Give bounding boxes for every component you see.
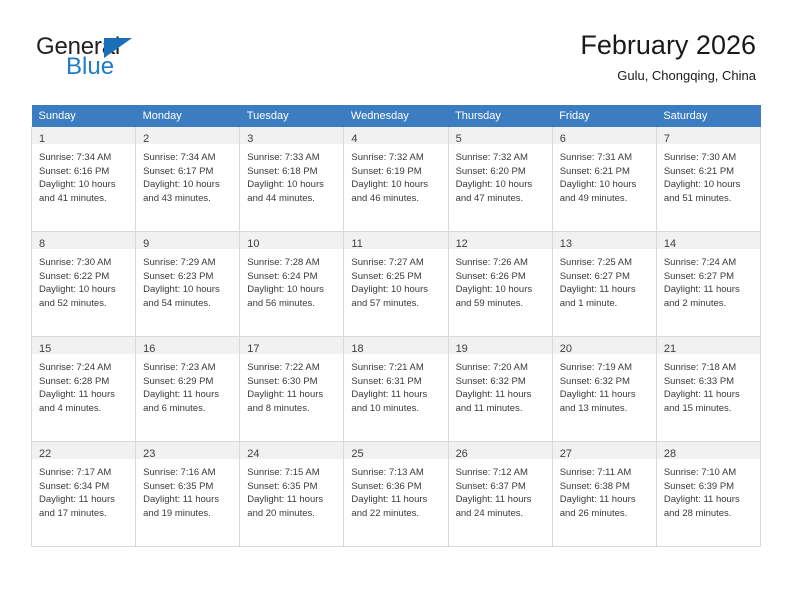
day-number: 15 (39, 343, 51, 355)
calendar-day-cell[interactable]: 2 Sunrise: 7:34 AM Sunset: 6:17 PM Dayli… (136, 127, 240, 232)
daylight-text: Daylight: 10 hours and 51 minutes. (664, 178, 754, 205)
brand-logo[interactable]: General Blue (36, 34, 246, 90)
sunrise-text: Sunrise: 7:24 AM (664, 256, 754, 270)
weekday-header-tuesday: Tuesday (240, 105, 344, 127)
day-number: 25 (351, 448, 363, 460)
title-block: February 2026 Gulu, Chongqing, China (580, 28, 756, 86)
day-number: 24 (247, 448, 259, 460)
daylight-text: Daylight: 11 hours and 15 minutes. (664, 388, 754, 415)
calendar-day-cell[interactable]: 9 Sunrise: 7:29 AM Sunset: 6:23 PM Dayli… (136, 232, 240, 337)
calendar-day-cell[interactable]: 14 Sunrise: 7:24 AM Sunset: 6:27 PM Dayl… (656, 232, 760, 337)
daylight-text: Daylight: 10 hours and 56 minutes. (247, 283, 337, 310)
calendar-day-cell[interactable]: 22 Sunrise: 7:17 AM Sunset: 6:34 PM Dayl… (32, 442, 136, 547)
calendar-table: Sunday Monday Tuesday Wednesday Thursday… (31, 105, 761, 547)
sunrise-text: Sunrise: 7:24 AM (39, 361, 129, 375)
calendar-day-cell[interactable]: 24 Sunrise: 7:15 AM Sunset: 6:35 PM Dayl… (240, 442, 344, 547)
daylight-text: Daylight: 10 hours and 44 minutes. (247, 178, 337, 205)
calendar-day-cell[interactable]: 10 Sunrise: 7:28 AM Sunset: 6:24 PM Dayl… (240, 232, 344, 337)
calendar-day-cell[interactable]: 7 Sunrise: 7:30 AM Sunset: 6:21 PM Dayli… (656, 127, 760, 232)
sunset-text: Sunset: 6:34 PM (39, 480, 129, 494)
sunset-text: Sunset: 6:21 PM (664, 165, 754, 179)
calendar-day-cell[interactable]: 18 Sunrise: 7:21 AM Sunset: 6:31 PM Dayl… (344, 337, 448, 442)
sunrise-text: Sunrise: 7:30 AM (664, 151, 754, 165)
calendar-day-cell[interactable]: 5 Sunrise: 7:32 AM Sunset: 6:20 PM Dayli… (448, 127, 552, 232)
day-number: 10 (247, 238, 259, 250)
day-number: 27 (560, 448, 572, 460)
sunrise-text: Sunrise: 7:10 AM (664, 466, 754, 480)
sunrise-text: Sunrise: 7:15 AM (247, 466, 337, 480)
sunrise-text: Sunrise: 7:12 AM (456, 466, 546, 480)
day-number: 5 (456, 133, 462, 145)
calendar-day-cell[interactable]: 12 Sunrise: 7:26 AM Sunset: 6:26 PM Dayl… (448, 232, 552, 337)
day-number: 4 (351, 133, 357, 145)
day-number: 9 (143, 238, 149, 250)
sunrise-text: Sunrise: 7:28 AM (247, 256, 337, 270)
sunset-text: Sunset: 6:31 PM (351, 375, 441, 389)
weekday-header-saturday: Saturday (656, 105, 760, 127)
daylight-text: Daylight: 10 hours and 47 minutes. (456, 178, 546, 205)
sunrise-text: Sunrise: 7:19 AM (560, 361, 650, 375)
day-number: 17 (247, 343, 259, 355)
calendar-day-cell[interactable]: 13 Sunrise: 7:25 AM Sunset: 6:27 PM Dayl… (552, 232, 656, 337)
sunset-text: Sunset: 6:19 PM (351, 165, 441, 179)
page-title: February 2026 (580, 28, 756, 62)
sunrise-text: Sunrise: 7:34 AM (39, 151, 129, 165)
daylight-text: Daylight: 10 hours and 57 minutes. (351, 283, 441, 310)
calendar-body: 1 Sunrise: 7:34 AM Sunset: 6:16 PM Dayli… (32, 127, 761, 547)
brand-name-blue: Blue (66, 55, 246, 79)
calendar-day-cell[interactable]: 16 Sunrise: 7:23 AM Sunset: 6:29 PM Dayl… (136, 337, 240, 442)
sunset-text: Sunset: 6:27 PM (560, 270, 650, 284)
day-number: 22 (39, 448, 51, 460)
calendar-day-cell[interactable]: 17 Sunrise: 7:22 AM Sunset: 6:30 PM Dayl… (240, 337, 344, 442)
sunset-text: Sunset: 6:17 PM (143, 165, 233, 179)
calendar-week-row: 15 Sunrise: 7:24 AM Sunset: 6:28 PM Dayl… (32, 337, 761, 442)
day-number: 2 (143, 133, 149, 145)
daylight-text: Daylight: 11 hours and 1 minute. (560, 283, 650, 310)
daylight-text: Daylight: 11 hours and 13 minutes. (560, 388, 650, 415)
day-number: 23 (143, 448, 155, 460)
daylight-text: Daylight: 11 hours and 28 minutes. (664, 493, 754, 520)
day-number: 7 (664, 133, 670, 145)
sunrise-text: Sunrise: 7:18 AM (664, 361, 754, 375)
calendar-day-cell[interactable]: 3 Sunrise: 7:33 AM Sunset: 6:18 PM Dayli… (240, 127, 344, 232)
sunrise-text: Sunrise: 7:25 AM (560, 256, 650, 270)
sunset-text: Sunset: 6:18 PM (247, 165, 337, 179)
sunset-text: Sunset: 6:27 PM (664, 270, 754, 284)
daylight-text: Daylight: 10 hours and 41 minutes. (39, 178, 129, 205)
calendar-day-cell[interactable]: 15 Sunrise: 7:24 AM Sunset: 6:28 PM Dayl… (32, 337, 136, 442)
sunset-text: Sunset: 6:32 PM (456, 375, 546, 389)
calendar-week-row: 1 Sunrise: 7:34 AM Sunset: 6:16 PM Dayli… (32, 127, 761, 232)
day-number: 18 (351, 343, 363, 355)
sunrise-text: Sunrise: 7:16 AM (143, 466, 233, 480)
sunrise-text: Sunrise: 7:30 AM (39, 256, 129, 270)
sunset-text: Sunset: 6:38 PM (560, 480, 650, 494)
day-number: 28 (664, 448, 676, 460)
daylight-text: Daylight: 11 hours and 20 minutes. (247, 493, 337, 520)
daylight-text: Daylight: 11 hours and 19 minutes. (143, 493, 233, 520)
day-number: 6 (560, 133, 566, 145)
day-number: 1 (39, 133, 45, 145)
weekday-header-friday: Friday (552, 105, 656, 127)
sunset-text: Sunset: 6:35 PM (247, 480, 337, 494)
sunrise-text: Sunrise: 7:32 AM (456, 151, 546, 165)
daylight-text: Daylight: 11 hours and 26 minutes. (560, 493, 650, 520)
day-number: 19 (456, 343, 468, 355)
calendar-day-cell[interactable]: 21 Sunrise: 7:18 AM Sunset: 6:33 PM Dayl… (656, 337, 760, 442)
calendar-day-cell[interactable]: 4 Sunrise: 7:32 AM Sunset: 6:19 PM Dayli… (344, 127, 448, 232)
daylight-text: Daylight: 11 hours and 4 minutes. (39, 388, 129, 415)
sunrise-text: Sunrise: 7:21 AM (351, 361, 441, 375)
sunrise-text: Sunrise: 7:29 AM (143, 256, 233, 270)
sunset-text: Sunset: 6:21 PM (560, 165, 650, 179)
calendar-day-cell[interactable]: 8 Sunrise: 7:30 AM Sunset: 6:22 PM Dayli… (32, 232, 136, 337)
calendar-day-cell[interactable]: 28 Sunrise: 7:10 AM Sunset: 6:39 PM Dayl… (656, 442, 760, 547)
weekday-header-monday: Monday (136, 105, 240, 127)
daylight-text: Daylight: 11 hours and 17 minutes. (39, 493, 129, 520)
calendar-day-cell[interactable]: 19 Sunrise: 7:20 AM Sunset: 6:32 PM Dayl… (448, 337, 552, 442)
sunset-text: Sunset: 6:39 PM (664, 480, 754, 494)
daylight-text: Daylight: 11 hours and 6 minutes. (143, 388, 233, 415)
daylight-text: Daylight: 11 hours and 11 minutes. (456, 388, 546, 415)
calendar-day-cell[interactable]: 6 Sunrise: 7:31 AM Sunset: 6:21 PM Dayli… (552, 127, 656, 232)
sunrise-text: Sunrise: 7:32 AM (351, 151, 441, 165)
sunset-text: Sunset: 6:36 PM (351, 480, 441, 494)
sunset-text: Sunset: 6:35 PM (143, 480, 233, 494)
day-number: 8 (39, 238, 45, 250)
sunrise-text: Sunrise: 7:11 AM (560, 466, 650, 480)
sunset-text: Sunset: 6:22 PM (39, 270, 129, 284)
calendar-day-cell[interactable]: 11 Sunrise: 7:27 AM Sunset: 6:25 PM Dayl… (344, 232, 448, 337)
sunset-text: Sunset: 6:33 PM (664, 375, 754, 389)
sunrise-text: Sunrise: 7:17 AM (39, 466, 129, 480)
sunset-text: Sunset: 6:20 PM (456, 165, 546, 179)
page-header: General Blue February 2026 Gulu, Chongqi… (36, 28, 756, 90)
daylight-text: Daylight: 10 hours and 54 minutes. (143, 283, 233, 310)
daylight-text: Daylight: 11 hours and 10 minutes. (351, 388, 441, 415)
day-number: 11 (351, 238, 362, 250)
sunset-text: Sunset: 6:32 PM (560, 375, 650, 389)
day-number: 3 (247, 133, 253, 145)
page-subtitle: Gulu, Chongqing, China (580, 66, 756, 86)
sunset-text: Sunset: 6:16 PM (39, 165, 129, 179)
day-number: 13 (560, 238, 572, 250)
sunset-text: Sunset: 6:37 PM (456, 480, 546, 494)
sunset-text: Sunset: 6:30 PM (247, 375, 337, 389)
sunrise-text: Sunrise: 7:23 AM (143, 361, 233, 375)
calendar-page: General Blue February 2026 Gulu, Chongqi… (0, 0, 792, 612)
triangle-icon (104, 38, 132, 58)
sunset-text: Sunset: 6:23 PM (143, 270, 233, 284)
daylight-text: Daylight: 11 hours and 24 minutes. (456, 493, 546, 520)
sunrise-text: Sunrise: 7:13 AM (351, 466, 441, 480)
calendar-week-row: 22 Sunrise: 7:17 AM Sunset: 6:34 PM Dayl… (32, 442, 761, 547)
sunrise-text: Sunrise: 7:22 AM (247, 361, 337, 375)
daylight-text: Daylight: 10 hours and 49 minutes. (560, 178, 650, 205)
sunset-text: Sunset: 6:29 PM (143, 375, 233, 389)
weekday-header-sunday: Sunday (32, 105, 136, 127)
weekday-header-wednesday: Wednesday (344, 105, 448, 127)
daylight-text: Daylight: 10 hours and 52 minutes. (39, 283, 129, 310)
calendar-day-cell[interactable]: 27 Sunrise: 7:11 AM Sunset: 6:38 PM Dayl… (552, 442, 656, 547)
sunset-text: Sunset: 6:28 PM (39, 375, 129, 389)
day-number: 26 (456, 448, 468, 460)
calendar-day-cell[interactable]: 20 Sunrise: 7:19 AM Sunset: 6:32 PM Dayl… (552, 337, 656, 442)
calendar-day-cell[interactable]: 23 Sunrise: 7:16 AM Sunset: 6:35 PM Dayl… (136, 442, 240, 547)
sunset-text: Sunset: 6:24 PM (247, 270, 337, 284)
sunrise-text: Sunrise: 7:31 AM (560, 151, 650, 165)
sunrise-text: Sunrise: 7:20 AM (456, 361, 546, 375)
sunrise-text: Sunrise: 7:34 AM (143, 151, 233, 165)
day-number: 12 (456, 238, 468, 250)
daylight-text: Daylight: 10 hours and 46 minutes. (351, 178, 441, 205)
daylight-text: Daylight: 11 hours and 22 minutes. (351, 493, 441, 520)
day-number: 16 (143, 343, 155, 355)
daylight-text: Daylight: 11 hours and 2 minutes. (664, 283, 754, 310)
calendar-day-cell[interactable]: 1 Sunrise: 7:34 AM Sunset: 6:16 PM Dayli… (32, 127, 136, 232)
day-number: 21 (664, 343, 676, 355)
calendar-week-row: 8 Sunrise: 7:30 AM Sunset: 6:22 PM Dayli… (32, 232, 761, 337)
sunrise-text: Sunrise: 7:27 AM (351, 256, 441, 270)
sunset-text: Sunset: 6:25 PM (351, 270, 441, 284)
sunrise-text: Sunrise: 7:33 AM (247, 151, 337, 165)
daylight-text: Daylight: 10 hours and 59 minutes. (456, 283, 546, 310)
calendar-day-cell[interactable]: 25 Sunrise: 7:13 AM Sunset: 6:36 PM Dayl… (344, 442, 448, 547)
day-number: 20 (560, 343, 572, 355)
daylight-text: Daylight: 10 hours and 43 minutes. (143, 178, 233, 205)
sunset-text: Sunset: 6:26 PM (456, 270, 546, 284)
day-number: 14 (664, 238, 676, 250)
weekday-header-thursday: Thursday (448, 105, 552, 127)
daylight-text: Daylight: 11 hours and 8 minutes. (247, 388, 337, 415)
calendar-day-cell[interactable]: 26 Sunrise: 7:12 AM Sunset: 6:37 PM Dayl… (448, 442, 552, 547)
weekday-header-row: Sunday Monday Tuesday Wednesday Thursday… (32, 105, 761, 127)
sunrise-text: Sunrise: 7:26 AM (456, 256, 546, 270)
